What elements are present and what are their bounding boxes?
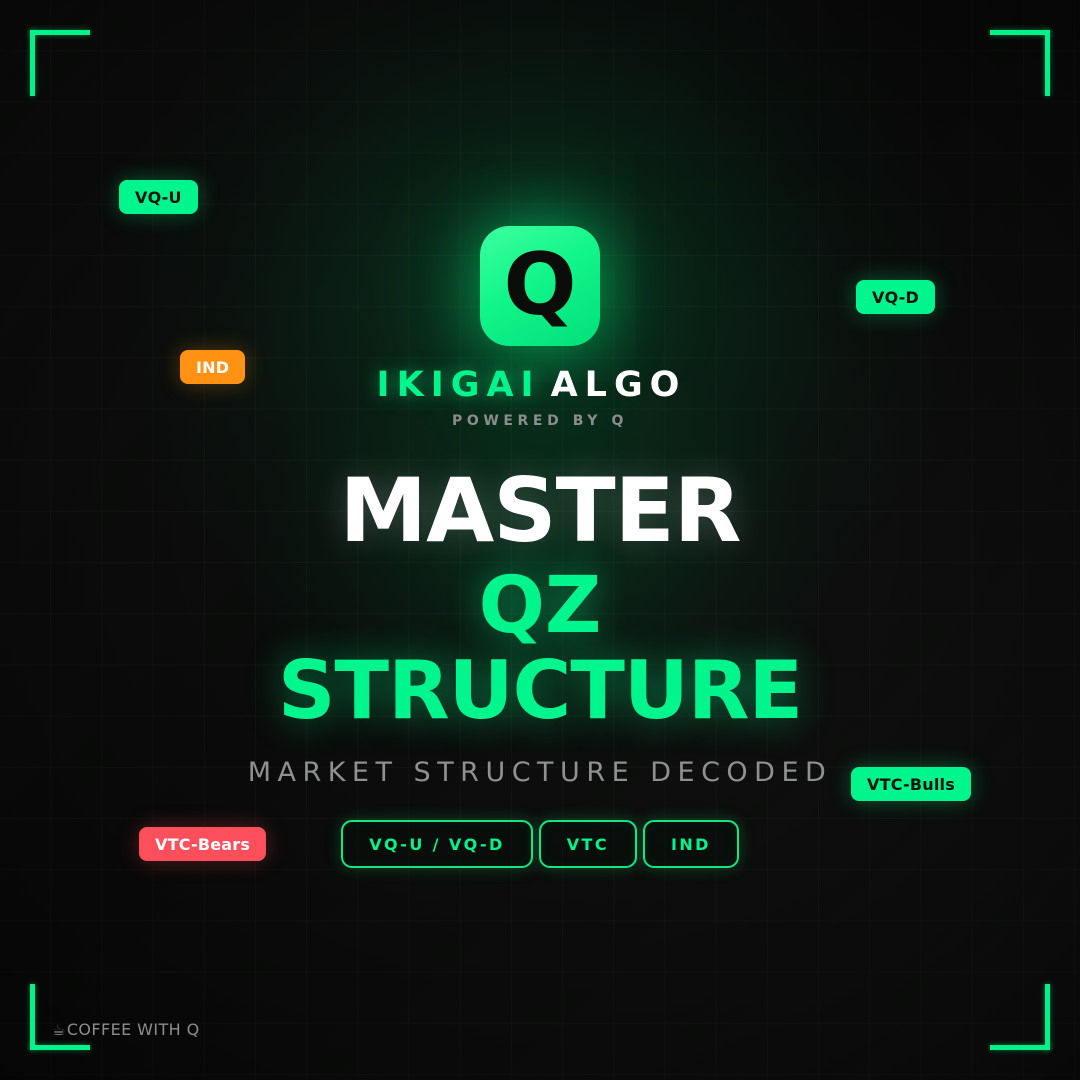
- corner-bracket-bottom-left: [30, 984, 90, 1050]
- bracket-line-vertical: [30, 984, 35, 1050]
- brand-tagline: POWERED BY Q: [452, 413, 628, 429]
- feature-pill-group: VQ-U / VQ-D VTC IND: [341, 820, 739, 868]
- coffee-cup-icon: ☕: [52, 1021, 66, 1039]
- bracket-line-horizontal: [990, 1045, 1050, 1050]
- corner-bracket-bottom-right: [990, 984, 1050, 1050]
- wordmark: IKIGAI ALGO ™: [377, 368, 704, 403]
- headline-line-3: STRUCTURE: [278, 651, 802, 731]
- app-logo-tile: Q: [480, 226, 600, 346]
- pill-ind[interactable]: IND: [643, 820, 739, 868]
- page-subtitle: MARKET STRUCTURE DECODED: [248, 757, 833, 788]
- bracket-line-horizontal: [30, 1045, 90, 1050]
- headline-line-1: MASTER: [278, 467, 802, 555]
- poster-canvas: VQ-U VQ-D IND VTC-Bulls VTC-Bears Q IKIG…: [0, 0, 1080, 1080]
- page-title: MASTER QZ STRUCTURE: [278, 467, 802, 731]
- footer-credit: ☕ COFFEE WITH Q: [52, 1020, 200, 1039]
- trademark-symbol: ™: [688, 370, 703, 385]
- wordmark-algo: ALGO: [551, 368, 687, 403]
- pill-vqu-vqd[interactable]: VQ-U / VQ-D: [341, 820, 533, 868]
- center-stack: Q IKIGAI ALGO ™ POWERED BY Q MASTER QZ S…: [0, 0, 1080, 868]
- footer-label: COFFEE WITH Q: [67, 1020, 200, 1039]
- wordmark-ikigai: IKIGAI: [377, 368, 541, 403]
- logo-letter-q: Q: [503, 242, 576, 328]
- pill-vtc[interactable]: VTC: [539, 820, 637, 868]
- bracket-line-vertical: [1045, 984, 1050, 1050]
- headline-line-2: QZ: [278, 567, 802, 645]
